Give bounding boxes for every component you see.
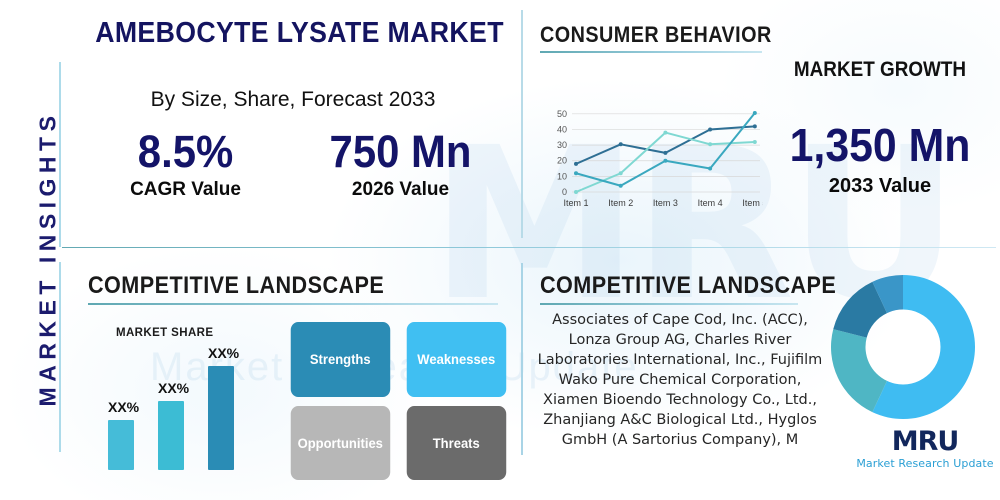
market-share-bar-label: XX% — [158, 380, 184, 396]
svg-text:Item 1: Item 1 — [563, 198, 588, 208]
market-growth-title: MARKET GROWTH — [781, 58, 979, 82]
svg-text:Item 2: Item 2 — [608, 198, 633, 208]
svg-text:20: 20 — [557, 156, 567, 166]
svg-text:Item 3: Item 3 — [653, 198, 678, 208]
svg-text:50: 50 — [557, 109, 567, 119]
donut-chart-market-share — [828, 272, 978, 422]
kpi-cagr: 8.5% CAGR Value — [78, 128, 293, 201]
svg-text:0: 0 — [562, 187, 567, 197]
brand-logo: MRU Market Research Update — [855, 428, 995, 470]
section-heading-consumer-behavior: CONSUMER BEHAVIOR — [540, 22, 772, 48]
section-heading-competitive-landscape-right: COMPETITIVE LANDSCAPE — [540, 272, 836, 300]
market-growth-value: 1,350 Mn — [768, 118, 991, 172]
kpi-cagr-value: 8.5% — [86, 128, 286, 175]
donut-segments — [831, 275, 975, 419]
market-growth-label: 2033 Value — [760, 175, 1000, 198]
market-share-title: MARKET SHARE — [116, 327, 213, 339]
company-list: Associates of Cape Cod, Inc. (ACC), Lonz… — [535, 310, 825, 450]
kpi-2026-label: 2026 Value — [293, 179, 508, 201]
kpi-2026: 750 Mn 2026 Value — [293, 128, 508, 201]
kpi-cagr-label: CAGR Value — [78, 179, 293, 201]
section-rule-competitive-right — [540, 303, 798, 305]
market-share-bar: XX% — [208, 345, 234, 470]
market-share-bar-rect — [108, 420, 134, 470]
market-share-bar: XX% — [108, 399, 134, 470]
line-chart-consumer-behavior: 01020304050 Item 1Item 2Item 3Item 4Item… — [548, 100, 763, 212]
divider-vertical-center-top — [521, 10, 523, 238]
swot-box-threats[interactable]: Threats — [406, 406, 505, 481]
page-title: AMEBOCYTE LYSATE MARKET — [95, 17, 491, 50]
infographic-root: MRU Market Research Update MARKET INSIGH… — [0, 0, 1000, 500]
market-share-bar-label: XX% — [108, 399, 134, 415]
line-chart-series-group — [574, 111, 757, 194]
section-heading-competitive-landscape-left: COMPETITIVE LANDSCAPE — [88, 272, 384, 300]
market-share-bar-rect — [158, 401, 184, 470]
section-rule-competitive-left — [88, 303, 498, 305]
svg-text:Item 4: Item 4 — [698, 198, 723, 208]
swot-box-weaknesses[interactable]: Weaknesses — [406, 322, 505, 397]
line-chart-y-tick-labels: 01020304050 — [557, 109, 567, 197]
brand-logo-mark: MRU — [855, 428, 995, 455]
section-rule-consumer-behavior — [540, 51, 762, 53]
svg-text:30: 30 — [557, 140, 567, 150]
swot-box-opportunities[interactable]: Opportunities — [291, 406, 390, 481]
divider-vertical-center-bottom — [521, 263, 523, 455]
market-share-bar-chart: XX%XX%XX% — [108, 340, 268, 470]
kpi-2026-value: 750 Mn — [301, 128, 501, 175]
market-share-bar-label: XX% — [208, 345, 234, 361]
svg-text:40: 40 — [557, 124, 567, 134]
market-share-bar: XX% — [158, 380, 184, 470]
divider-horizontal-main — [62, 247, 996, 248]
svg-text:Item 5: Item 5 — [742, 198, 763, 208]
swot-grid: StrengthsWeaknessesOpportunitiesThreats — [287, 322, 509, 480]
line-chart-x-tick-labels: Item 1Item 2Item 3Item 4Item 5 — [563, 198, 763, 208]
side-label-market-insights: MARKET INSIGHTS — [35, 99, 62, 419]
page-subtitle: By Size, Share, Forecast 2033 — [78, 88, 508, 112]
swot-box-strengths[interactable]: Strengths — [291, 322, 390, 397]
svg-text:10: 10 — [557, 171, 567, 181]
market-share-bar-rect — [208, 366, 234, 470]
brand-logo-subtitle: Market Research Update — [855, 457, 995, 470]
kpi-row: 8.5% CAGR Value 750 Mn 2026 Value — [78, 128, 508, 201]
